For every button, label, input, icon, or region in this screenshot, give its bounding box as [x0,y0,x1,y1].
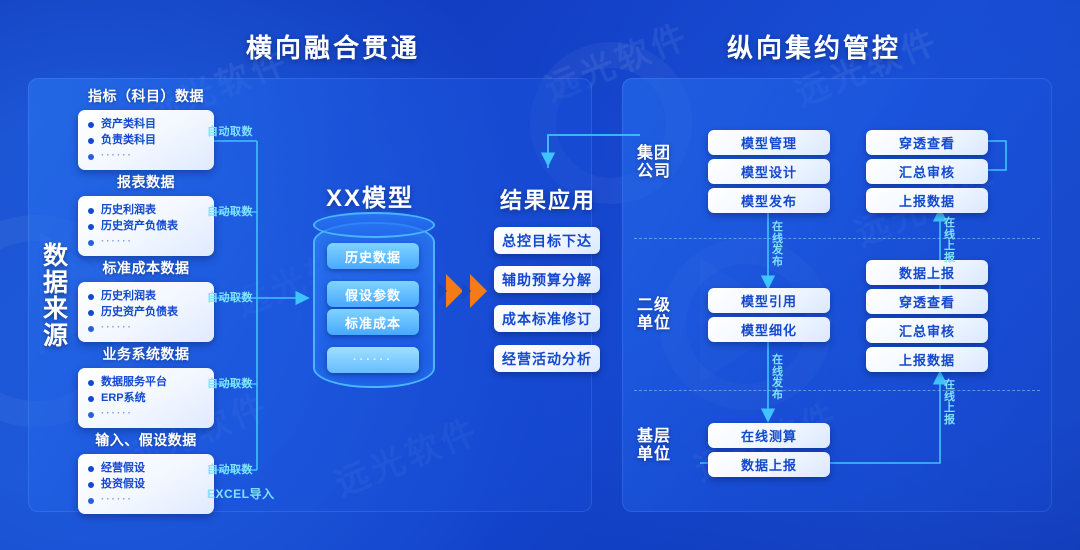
result-item[interactable]: 成本标准修订 [494,305,600,332]
node-summary-audit[interactable]: 汇总审核 [866,318,988,343]
source-group-card: 资产类科目 负责类科目 ······ [78,110,214,170]
section-title-left: 横向融合贯通 [246,28,420,65]
tier-label-line: 集团 [634,145,674,163]
node-model-reference[interactable]: 模型引用 [708,288,830,313]
node-summary-audit[interactable]: 汇总审核 [866,159,988,184]
result-item[interactable]: 辅助预算分解 [494,266,600,293]
connector-label: 自动取数 [207,375,253,391]
node-model-publish[interactable]: 模型发布 [708,188,830,213]
source-group-title: 输入、假设数据 [78,430,214,450]
results-title: 结果应用 [500,183,596,215]
list-item: 负责类科目 [88,133,206,149]
model-title: XX模型 [326,178,414,213]
result-item[interactable]: 经营活动分析 [494,345,600,372]
list-item: 投资假设 [88,477,206,493]
data-source-label: 数据来源 [39,243,73,349]
model-chip[interactable]: 历史数据 [327,243,419,269]
source-group: 指标（科目）数据 资产类科目 负责类科目 ······ [78,86,214,170]
source-group: 输入、假设数据 经营假设 投资假设 ······ [78,430,214,514]
connector-label: 自动取数 [207,461,253,477]
result-item[interactable]: 总控目标下达 [494,227,600,254]
tier-divider [634,238,1040,239]
node-data-report[interactable]: 数据上报 [708,452,830,477]
tier-label-group: 集团 公司 [634,145,674,182]
model-chip[interactable]: ······ [327,347,419,373]
tier-label-secondary: 二级 单位 [634,297,674,334]
flow-label-publish: 在线发布 [772,222,784,268]
list-item: ······ [88,149,206,164]
tier-label-line: 单位 [634,315,674,333]
flow-label-publish: 在线发布 [772,355,784,401]
node-online-calc[interactable]: 在线测算 [708,423,830,448]
list-item: ······ [88,235,206,250]
connector-label: 自动取数 [207,289,253,305]
node-model-design[interactable]: 模型设计 [708,159,830,184]
connector-label: 自动取数 [207,123,253,139]
source-group: 业务系统数据 数据服务平台 ERP系统 ······ [78,344,214,428]
source-group: 报表数据 历史利润表 历史资产负债表 ······ [78,172,214,256]
list-item: 历史利润表 [88,203,206,219]
connector-label: 自动取数 [207,203,253,219]
list-item: 历史资产负债表 [88,219,206,235]
source-group-card: 经营假设 投资假设 ······ [78,454,214,514]
list-item: 历史利润表 [88,289,206,305]
list-item: 资产类科目 [88,117,206,133]
model-cylinder-top [313,212,435,238]
node-report-data[interactable]: 上报数据 [866,188,988,213]
source-group-card: 数据服务平台 ERP系统 ······ [78,368,214,428]
tier-label-line: 公司 [634,163,674,181]
list-item: ERP系统 [88,391,206,407]
source-group: 标准成本数据 历史利润表 历史资产负债表 ······ [78,258,214,342]
source-group-title: 标准成本数据 [78,258,214,278]
list-item: 历史资产负债表 [88,305,206,321]
tier-divider [634,390,1040,391]
source-group-card: 历史利润表 历史资产负债表 ······ [78,282,214,342]
tier-label-line: 基层 [634,428,674,446]
source-group-title: 业务系统数据 [78,344,214,364]
list-item: 经营假设 [88,461,206,477]
node-report-data[interactable]: 上报数据 [866,347,988,372]
diagram-canvas: 远光软件 远光软件 远光软件 远光软件 远光软件 远光软件 远光软件 远光软件 … [0,0,1080,550]
tier-label-line: 单位 [634,446,674,464]
source-group-title: 报表数据 [78,172,214,192]
flow-label-report: 在线上报 [944,218,956,264]
list-item: ······ [88,493,206,508]
tier-label-base: 基层 单位 [634,428,674,465]
node-data-report[interactable]: 数据上报 [866,260,988,285]
source-group-card: 历史利润表 历史资产负债表 ······ [78,196,214,256]
section-title-right: 纵向集约管控 [727,28,901,65]
tier-label-line: 二级 [634,297,674,315]
model-chip[interactable]: 标准成本 [327,309,419,335]
connector-label-excel: EXCEL导入 [207,485,275,502]
flow-label-report: 在线上报 [944,380,956,426]
node-drilldown-view[interactable]: 穿透查看 [866,130,988,155]
model-chip[interactable]: 假设参数 [327,281,419,307]
node-drilldown-view[interactable]: 穿透查看 [866,289,988,314]
list-item: ······ [88,407,206,422]
list-item: 数据服务平台 [88,375,206,391]
node-model-refine[interactable]: 模型细化 [708,317,830,342]
node-model-manage[interactable]: 模型管理 [708,130,830,155]
list-item: ······ [88,321,206,336]
source-group-title: 指标（科目）数据 [78,86,214,106]
